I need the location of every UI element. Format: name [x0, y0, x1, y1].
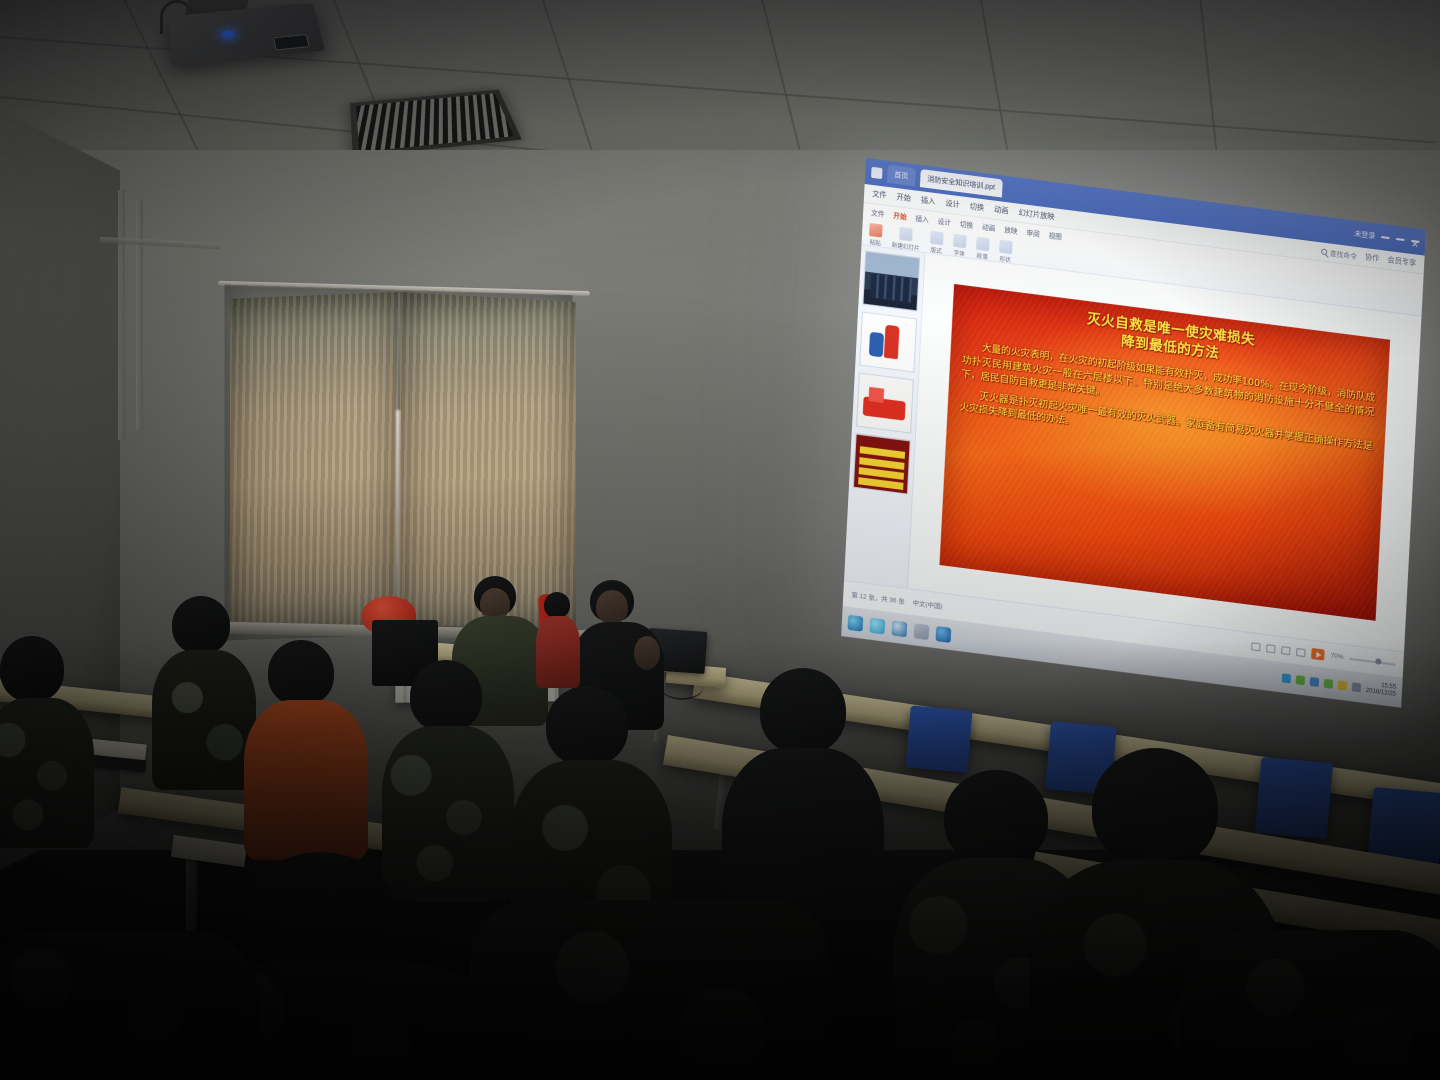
vignette	[0, 0, 1440, 1080]
classroom-photo: 首页 消防安全知识培训.ppt 未登录 ✕ 文件 开始 插入 设计	[0, 0, 1440, 1080]
